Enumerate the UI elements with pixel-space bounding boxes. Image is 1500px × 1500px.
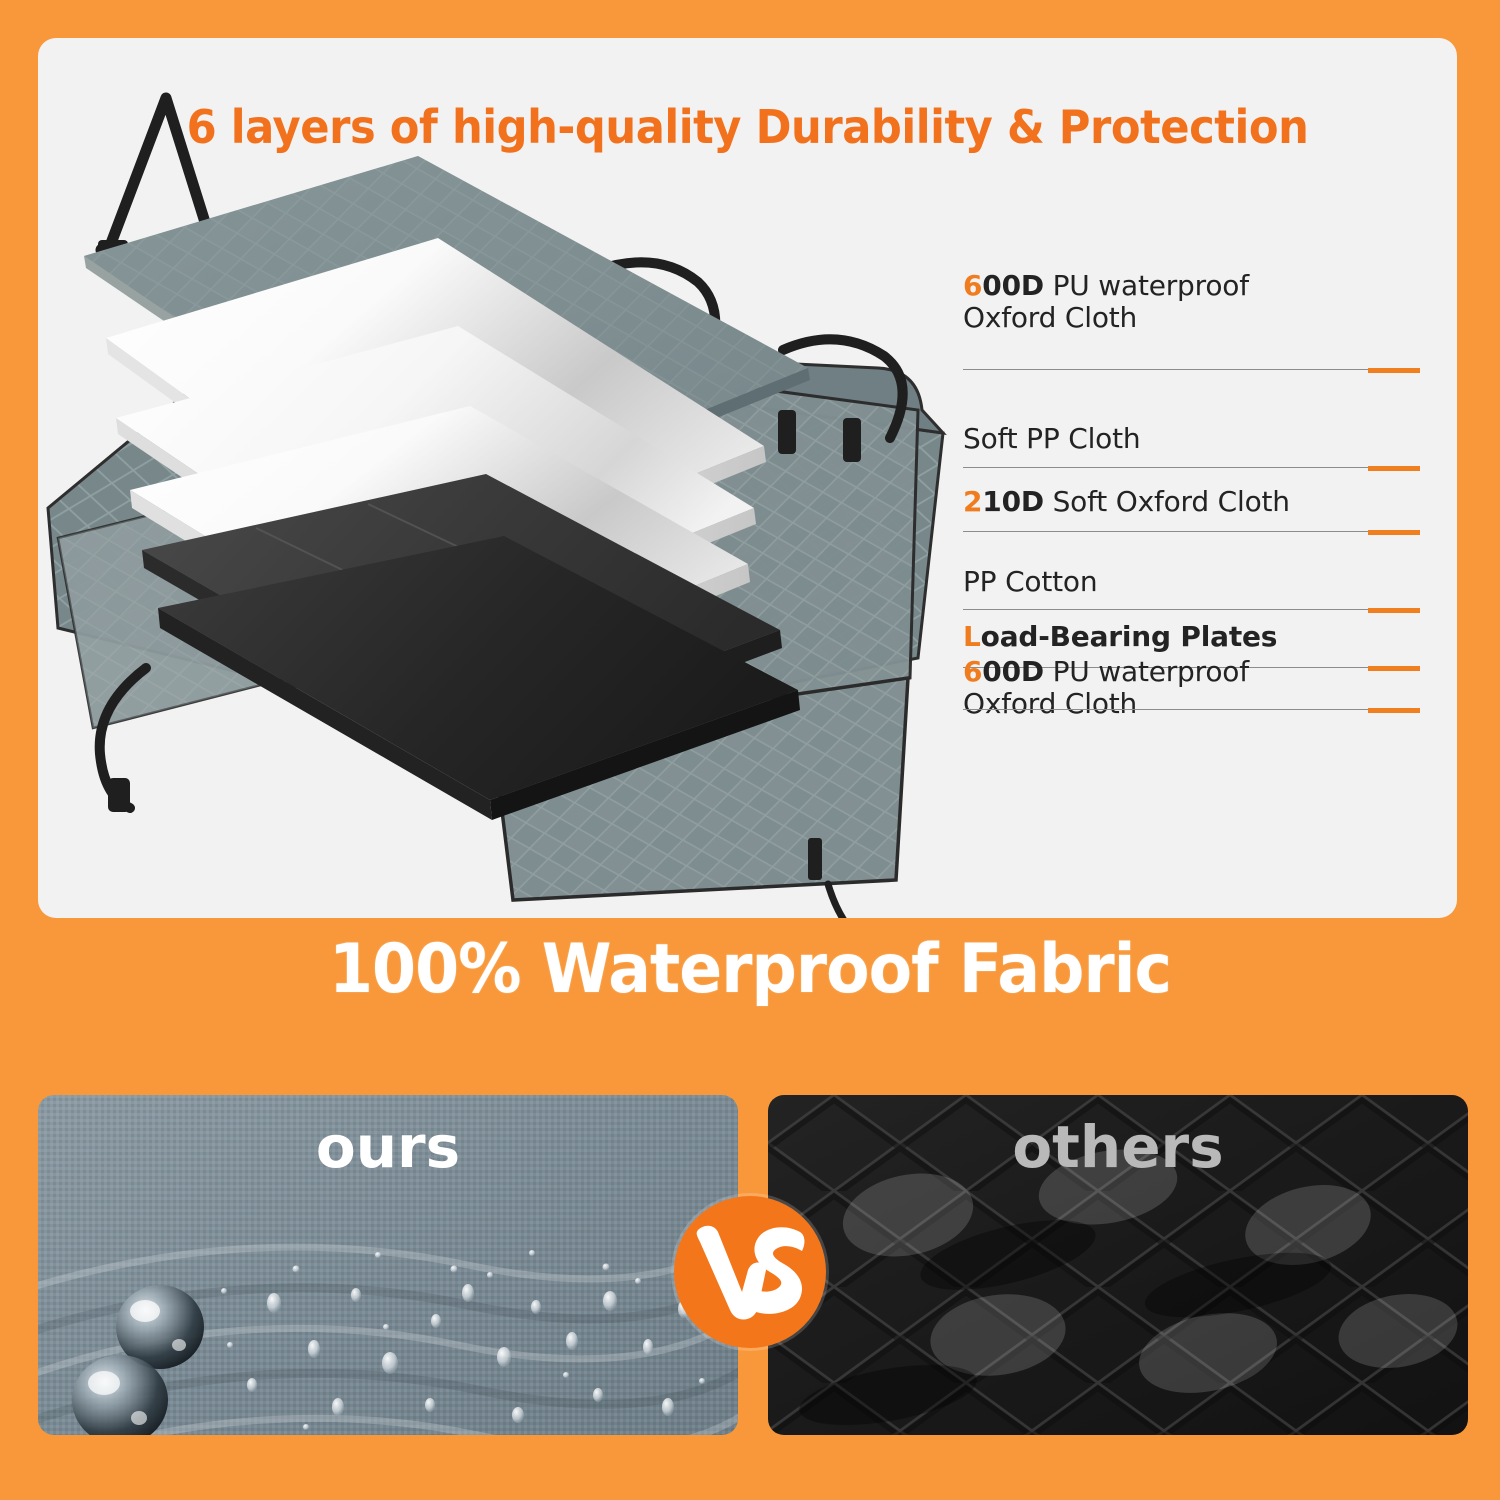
layer-label-1: 600D PU waterproof Oxford Cloth	[963, 270, 1433, 334]
vs-icon	[674, 1196, 826, 1348]
layer-label-1-cap: 6	[963, 269, 982, 302]
layer-label-4: PP Cotton	[963, 566, 1433, 598]
layer-leader-1	[963, 368, 1433, 372]
layer-leader-2-line	[963, 467, 1368, 468]
layer-leader-4	[963, 608, 1433, 612]
layer-label-6-boldrest: 00D	[982, 655, 1044, 688]
layer-leader-6-tick	[1368, 708, 1420, 713]
layer-label-3-boldrest: 10D	[982, 485, 1044, 518]
layer-leader-1-tick	[1368, 368, 1420, 373]
layer-label-4-rest: PP Cotton	[963, 565, 1097, 598]
layer-label-1-rest: PU waterproof	[1044, 269, 1249, 302]
layer-leader-3	[963, 530, 1433, 534]
layer-label-5-text: Load-Bearing Plates	[963, 621, 1433, 653]
layer-label-3-text: 210D Soft Oxford Cloth	[963, 486, 1433, 518]
layer-leader-1-line	[963, 369, 1368, 370]
waterproof-banner-title: 100% Waterproof Fabric	[53, 930, 1448, 1009]
layer-leader-4-tick	[1368, 608, 1420, 613]
layer-leader-6-line	[963, 709, 1368, 710]
layer-leader-2	[963, 466, 1433, 470]
ours-caption: ours	[38, 1113, 738, 1181]
layer-label-6-line2: Oxford Cloth	[963, 687, 1137, 720]
comparison-photo-ours: ours	[38, 1095, 738, 1435]
product-layer-illustration	[38, 38, 1457, 918]
layer-label-6-cap: 6	[963, 655, 982, 688]
layer-label-6-rest: PU waterproof	[1044, 655, 1249, 688]
layer-label-5-rest: oad-Bearing Plates	[981, 620, 1278, 653]
layer-label-4-text: PP Cotton	[963, 566, 1433, 598]
layer-label-3: 210D Soft Oxford Cloth	[963, 486, 1433, 518]
comparison-photo-others: others	[768, 1095, 1468, 1435]
layer-label-2-text: Soft PP Cloth	[963, 423, 1433, 455]
layer-breakdown-panel: 6 layers of high-quality Durability & Pr…	[38, 38, 1457, 918]
layer-leader-3-line	[963, 531, 1368, 532]
layer-label-1-text: 600D PU waterproof Oxford Cloth	[963, 270, 1433, 334]
layer-label-3-rest: Soft Oxford Cloth	[1044, 485, 1290, 518]
layer-leader-6	[963, 708, 1433, 712]
layer-leader-2-tick	[1368, 466, 1420, 471]
layer-label-2-rest: Soft PP Cloth	[963, 422, 1140, 455]
layer-label-1-line2: Oxford Cloth	[963, 301, 1137, 334]
others-caption: others	[768, 1113, 1468, 1181]
layer-label-5-cap: L	[963, 620, 981, 653]
vs-badge	[674, 1196, 826, 1348]
layer-label-1-boldrest: 00D	[982, 269, 1044, 302]
page-title: 6 layers of high-quality Durability & Pr…	[81, 100, 1415, 154]
layer-label-2: Soft PP Cloth	[963, 423, 1433, 455]
layer-label-3-cap: 2	[963, 485, 982, 518]
layer-label-5: Load-Bearing Plates	[963, 621, 1433, 653]
layer-leader-3-tick	[1368, 530, 1420, 535]
layer-leader-4-line	[963, 609, 1368, 610]
